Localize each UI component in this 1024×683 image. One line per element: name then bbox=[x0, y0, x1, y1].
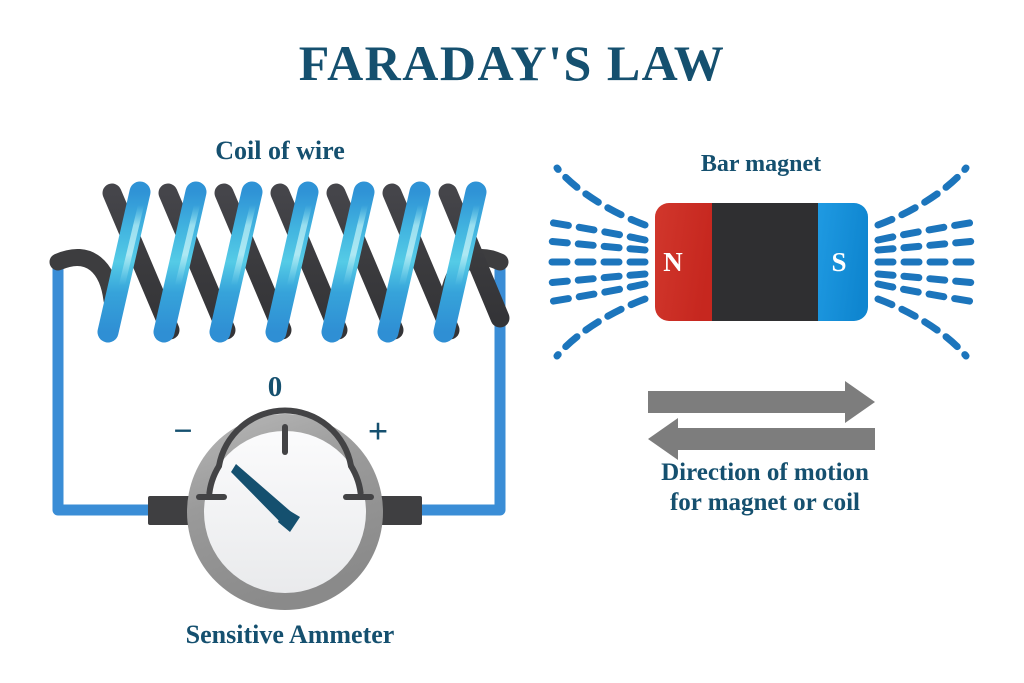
motion-arrows-group bbox=[0, 0, 1024, 683]
motion-label: Direction of motion for magnet or coil bbox=[615, 458, 915, 517]
arrow-right-icon bbox=[648, 381, 875, 423]
arrow-left-icon bbox=[648, 418, 875, 460]
faraday-law-diagram: FARADAY'S LAW bbox=[0, 0, 1024, 683]
